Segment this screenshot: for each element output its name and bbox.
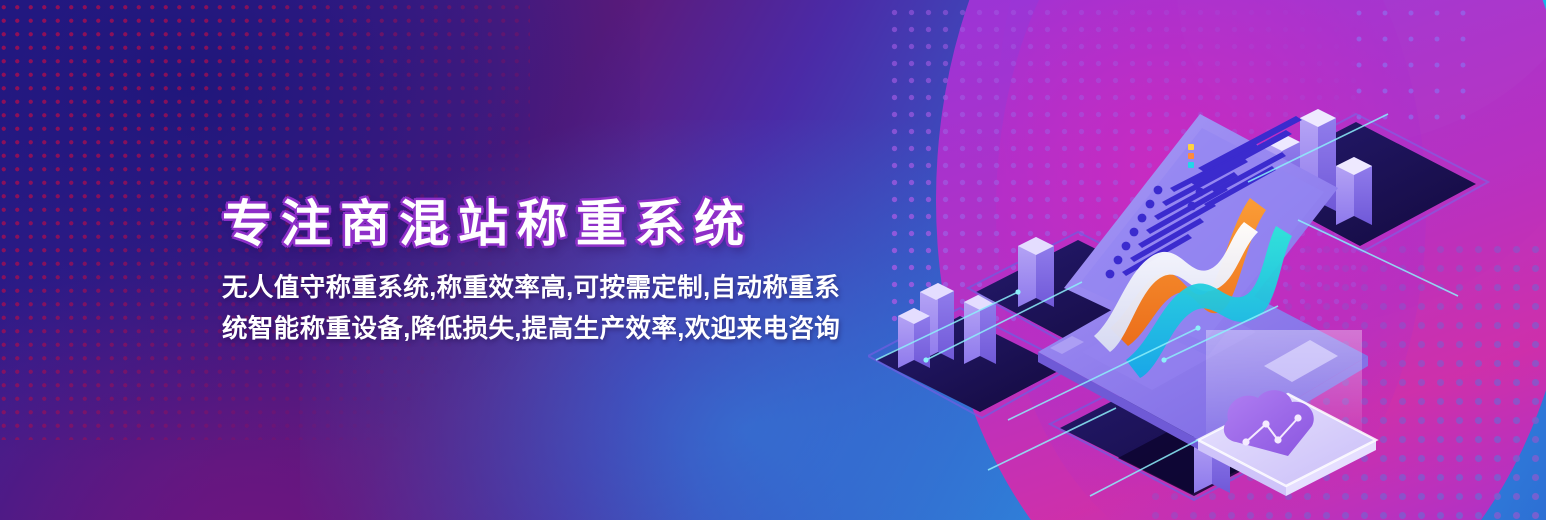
tower-mid-left	[1018, 237, 1054, 307]
banner-copy: 专注商混站称重系统 无人值守称重系统,称重效率高,可按需定制,自动称重系 统智能…	[222, 196, 902, 351]
banner-subtitle-line-2: 统智能称重设备,降低损失,提高生产效率,欢迎来电咨询	[222, 309, 902, 350]
status-indicator-dots	[1188, 144, 1194, 168]
banner-headline: 专注商混站称重系统	[222, 196, 902, 252]
banner-subtitle-line-1: 无人值守称重系统,称重效率高,可按需定制,自动称重系	[222, 268, 902, 309]
hero-banner: 专注商混站称重系统 无人值守称重系统,称重效率高,可按需定制,自动称重系 统智能…	[0, 0, 1546, 520]
isometric-illustration	[868, 60, 1546, 520]
banner-subtitle: 无人值守称重系统,称重效率高,可按需定制,自动称重系 统智能称重设备,降低损失,…	[222, 268, 902, 351]
